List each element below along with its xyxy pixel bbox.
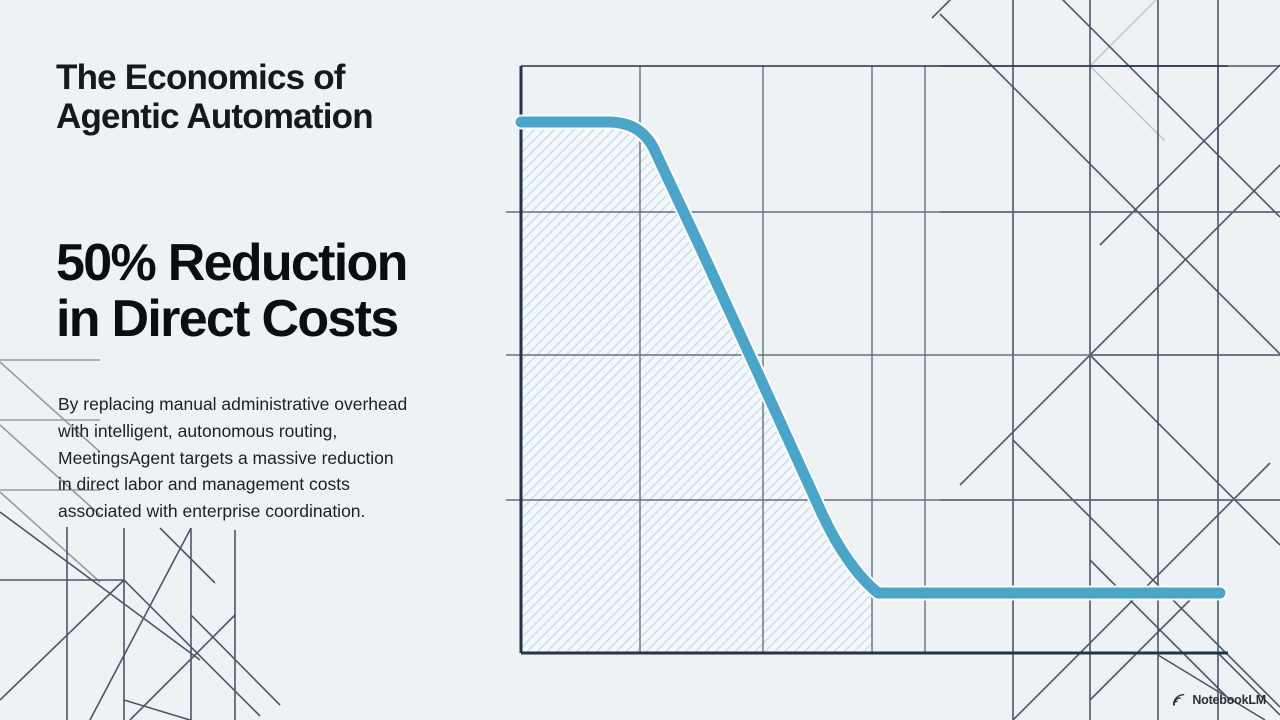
notebooklm-spark-icon (1171, 692, 1187, 708)
eyebrow-title: The Economics of Agentic Automation (56, 58, 486, 136)
text-column: The Economics of Agentic Automation 50% … (56, 58, 486, 136)
chart-area-fill (521, 110, 881, 658)
notebooklm-watermark: NotebookLM (1171, 692, 1266, 708)
slide-canvas: The Economics of Agentic Automation 50% … (0, 0, 1280, 720)
page-title: 50% Reduction in Direct Costs (56, 235, 496, 347)
watermark-label: NotebookLM (1192, 693, 1266, 707)
body-paragraph: By replacing manual administrative overh… (58, 391, 482, 525)
